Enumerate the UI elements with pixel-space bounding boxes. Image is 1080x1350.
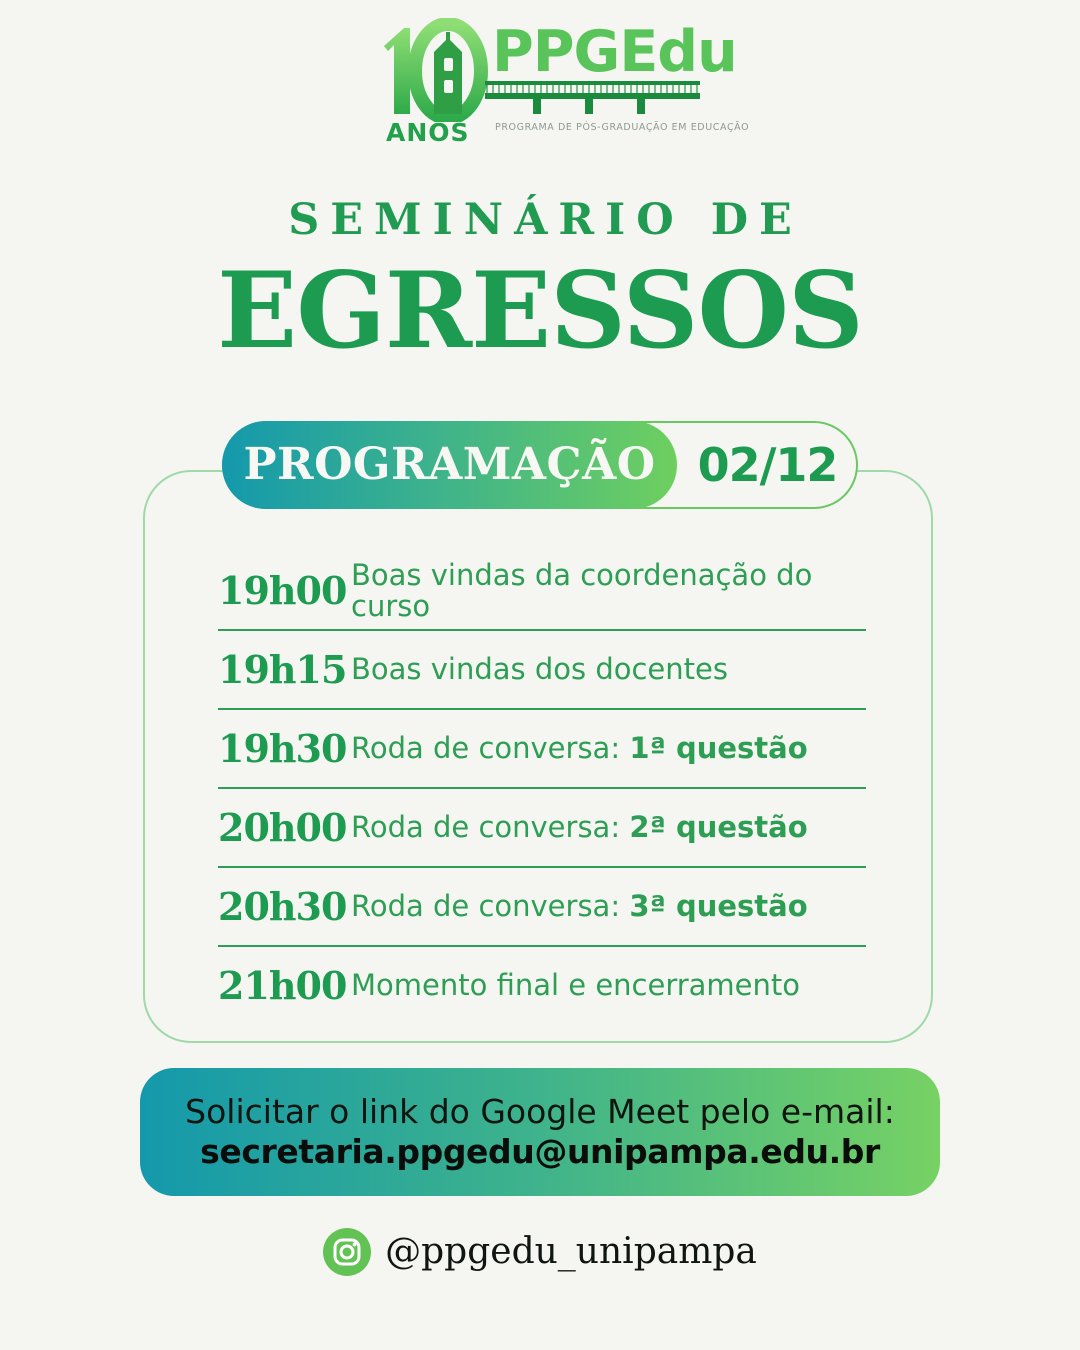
- schedule-time: 20h00: [218, 809, 351, 847]
- anniversary-10-icon: [380, 18, 488, 122]
- page-title: EGRESSOS: [0, 258, 1080, 363]
- schedule-row: 19h00 Boas vindas da coordenação do curs…: [218, 552, 866, 631]
- ppgedu-logo: ANOS PPGEdu: [0, 18, 1080, 146]
- bridge-icon: [485, 80, 700, 120]
- seminar-kicker: SEMINÁRIO DE: [0, 195, 1080, 245]
- social-handle-row[interactable]: @ppgedu_unipampa: [0, 1228, 1080, 1276]
- schedule-time: 19h00: [218, 572, 351, 610]
- ppgedu-tagline: PROGRAMA DE PÓS-GRADUAÇÃO EM EDUCAÇÃO: [495, 122, 749, 133]
- instagram-icon[interactable]: [323, 1228, 371, 1276]
- schedule-description: Boas vindas dos docentes: [351, 654, 728, 684]
- schedule-time: 20h30: [218, 888, 351, 926]
- contact-instruction: Solicitar o link do Google Meet pelo e-m…: [185, 1094, 895, 1130]
- schedule-description: Roda de conversa: 1ª questão: [351, 733, 808, 763]
- social-handle-text[interactable]: @ppgedu_unipampa: [385, 1234, 757, 1270]
- schedule-time: 19h15: [218, 651, 351, 689]
- schedule-row: 21h00 Momento final e encerramento: [218, 947, 866, 1024]
- schedule-time: 21h00: [218, 967, 351, 1005]
- schedule-description: Momento final e encerramento: [351, 970, 800, 1000]
- program-pill: PROGRAMAÇÃO: [222, 421, 677, 509]
- program-date: 02/12: [677, 421, 858, 509]
- contact-banner: Solicitar o link do Google Meet pelo e-m…: [140, 1068, 940, 1196]
- schedule-row: 19h30 Roda de conversa: 1ª questão: [218, 710, 866, 789]
- schedule-list: 19h00 Boas vindas da coordenação do curs…: [218, 552, 866, 1024]
- ppgedu-wordmark: PPGEdu: [492, 24, 737, 81]
- schedule-row: 20h30 Roda de conversa: 3ª questão: [218, 868, 866, 947]
- anniversary-years-label: ANOS: [386, 120, 470, 145]
- program-pill-label: PROGRAMAÇÃO: [243, 443, 655, 487]
- schedule-time: 19h30: [218, 730, 351, 768]
- poster: ANOS PPGEdu: [0, 0, 1080, 1350]
- schedule-row: 19h15 Boas vindas dos docentes: [218, 631, 866, 710]
- schedule-description: Boas vindas da coordenação do curso: [351, 560, 866, 621]
- schedule-description: Roda de conversa: 2ª questão: [351, 812, 808, 842]
- contact-email[interactable]: secretaria.ppgedu@unipampa.edu.br: [200, 1134, 880, 1170]
- schedule-row: 20h00 Roda de conversa: 2ª questão: [218, 789, 866, 868]
- schedule-description: Roda de conversa: 3ª questão: [351, 891, 808, 921]
